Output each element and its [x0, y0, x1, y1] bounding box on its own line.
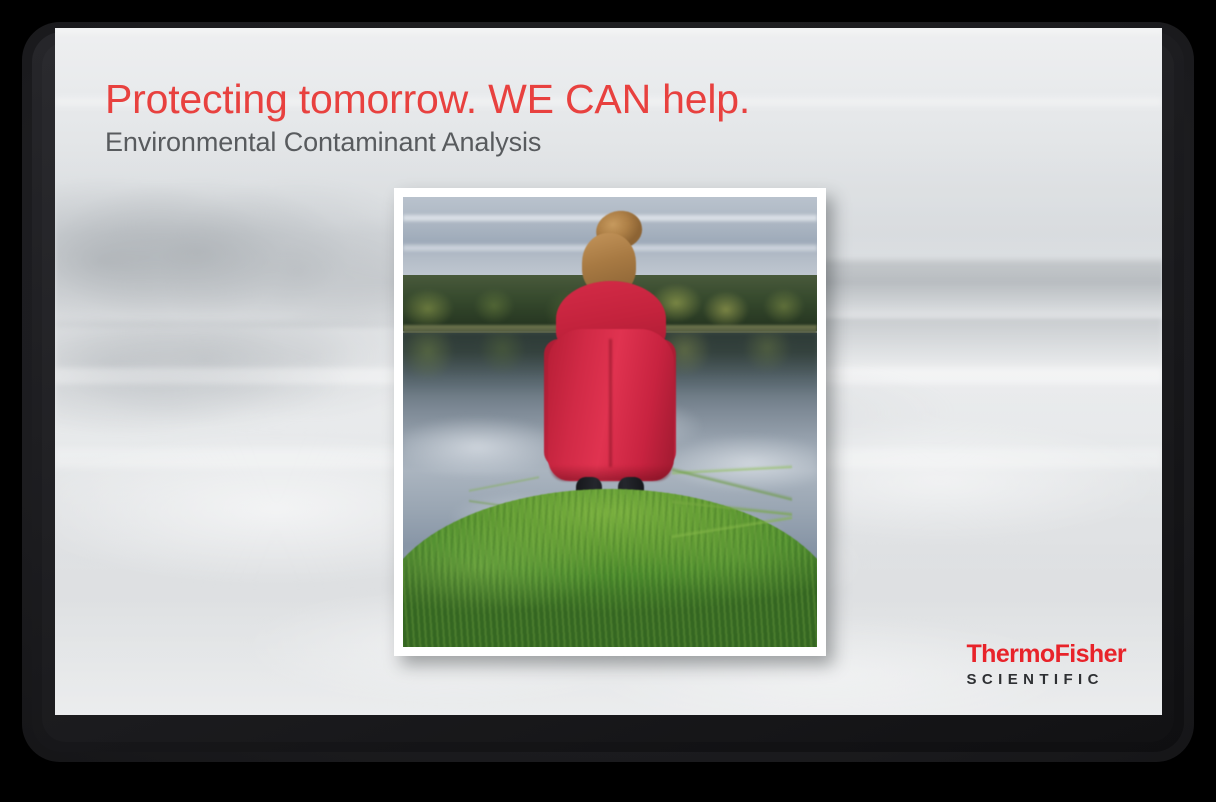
photo-grass-blades-right	[672, 437, 792, 577]
logo-wordmark: ThermoFisher	[967, 642, 1127, 667]
headline-block: Protecting tomorrow. WE CAN help. Enviro…	[105, 78, 750, 158]
inset-photo-image	[403, 197, 817, 647]
thermo-fisher-logo: ThermoFisher SCIENTIFIC	[967, 642, 1127, 687]
presentation-slide: Protecting tomorrow. WE CAN help. Enviro…	[55, 28, 1162, 715]
person-jacket-seam	[609, 339, 612, 467]
inset-photo-card	[394, 188, 826, 656]
page-title: Protecting tomorrow. WE CAN help.	[105, 78, 750, 121]
logo-tagline: SCIENTIFIC	[967, 672, 1127, 687]
page-subtitle: Environmental Contaminant Analysis	[105, 127, 750, 158]
person-jacket-hem	[549, 465, 673, 481]
